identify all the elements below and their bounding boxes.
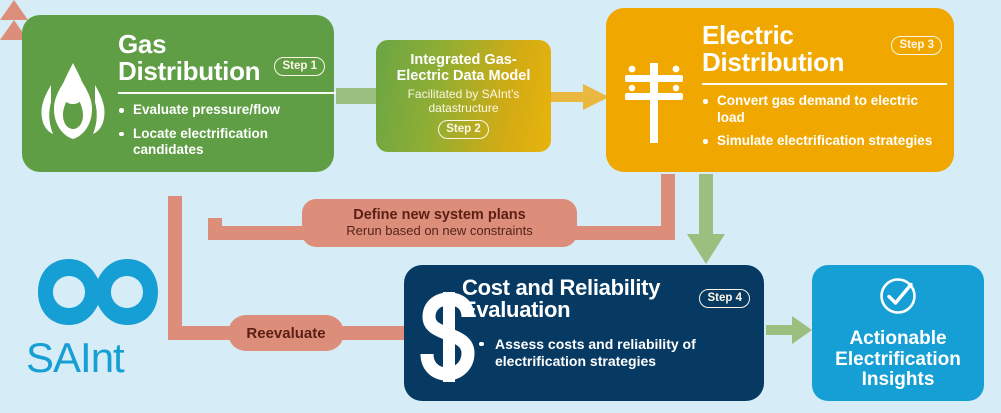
model-card-subtitle: Facilitated by SAInt’s datastructure [408, 88, 520, 116]
gas-card-body: Gas Distribution Evaluate pressure/flow … [118, 31, 324, 165]
electric-distribution-card[interactable]: Electric Distribution Convert gas demand… [606, 8, 954, 172]
integrated-data-model-card[interactable]: Integrated Gas- Electric Data Model Faci… [376, 40, 551, 152]
connector-cost-to-insights-arrow [766, 316, 812, 344]
saint-wordmark: SAInt [26, 337, 124, 379]
flame-icon [36, 59, 110, 143]
gas-title-line-1: Gas [118, 31, 324, 58]
connector-electric-to-cost-arrow [687, 174, 725, 264]
define-plans-title: Define new system plans [353, 207, 525, 224]
model-subtitle-line-1: Facilitated by SAInt’s [408, 88, 520, 102]
cost-bullet-1: Assess costs and reliability of electrif… [478, 336, 754, 370]
feedback-line-top-right [560, 226, 675, 240]
gas-distribution-card[interactable]: Gas Distribution Evaluate pressure/flow … [22, 15, 334, 172]
step-badge-2: Step 2 [438, 120, 489, 139]
saint-logo: SAInt [22, 255, 172, 390]
step-badge-4: Step 4 [699, 289, 750, 308]
model-title-line-2: Electric Data Model [397, 69, 531, 85]
step-badge-3: Step 3 [891, 36, 942, 55]
gas-divider [118, 92, 336, 94]
reevaluate-title: Reevaluate [246, 325, 325, 342]
check-circle-icon [877, 275, 919, 322]
gas-bullet-list: Evaluate pressure/flow Locate electrific… [118, 102, 324, 158]
gas-bullet-1: Evaluate pressure/flow [118, 102, 324, 118]
cost-bullet-list: Assess costs and reliability of electrif… [478, 336, 754, 370]
model-card-title: Integrated Gas- Electric Data Model [397, 53, 531, 85]
electric-bullet-1: Convert gas demand to electric load [702, 93, 944, 126]
define-new-system-plans-label[interactable]: Define new system plans Rerun based on n… [302, 199, 577, 247]
insights-line-1: Actionable [835, 329, 961, 350]
electric-bullet-2: Simulate electrification strategies [702, 133, 944, 149]
feedback-line-inner-vertical [208, 218, 222, 240]
cost-reliability-card[interactable]: Cost and Reliability Evaluation Assess c… [404, 265, 764, 401]
step-badge-1: Step 1 [274, 57, 325, 76]
utility-pole-icon [616, 56, 692, 146]
gas-bullet-2: Locate electrification candidates [118, 126, 324, 159]
define-plans-subtitle: Rerun based on new constraints [346, 224, 532, 239]
reevaluate-label[interactable]: Reevaluate [228, 315, 344, 351]
model-title-line-1: Integrated Gas- [397, 53, 531, 69]
insights-line-2: Electrification [835, 350, 961, 371]
actionable-insights-card[interactable]: Actionable Electrification Insights [812, 265, 984, 401]
electric-bullet-list: Convert gas demand to electric load Simu… [702, 93, 944, 149]
connector-gas-to-model [336, 88, 378, 104]
model-card-body: Integrated Gas- Electric Data Model Faci… [376, 40, 551, 152]
diagram-canvas: Define new system plans Rerun based on n… [0, 0, 1001, 413]
connector-model-to-electric-arrow [551, 84, 609, 110]
insights-line-3: Insights [835, 370, 961, 391]
insights-text: Actionable Electrification Insights [835, 329, 961, 392]
electric-divider [702, 83, 947, 85]
infinity-icon [34, 255, 162, 334]
model-subtitle-line-2: datastructure [408, 102, 520, 116]
